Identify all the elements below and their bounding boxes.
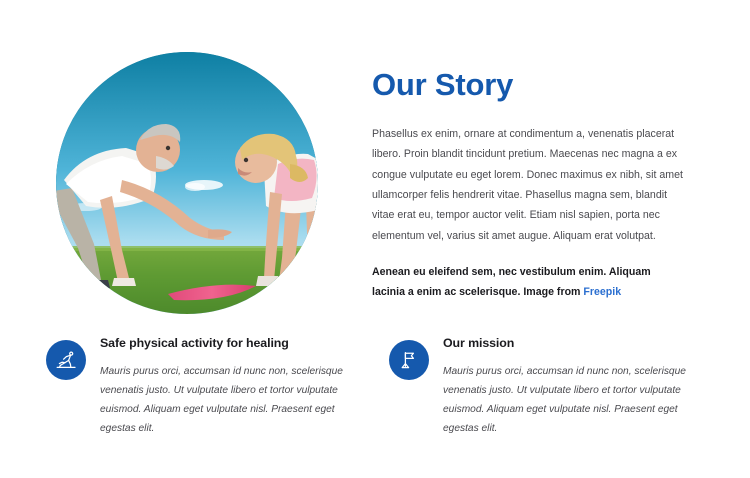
feature-text-block: Safe physical activity for healing Mauri… bbox=[100, 336, 346, 438]
page-title: Our Story bbox=[372, 68, 684, 102]
feature-card-safe-activity: Safe physical activity for healing Mauri… bbox=[46, 336, 346, 438]
image-credit-label: Image from bbox=[523, 286, 580, 298]
exercise-stretch-icon bbox=[46, 340, 86, 380]
feature-card-our-mission: Our mission Mauris purus orci, accumsan … bbox=[389, 336, 689, 438]
hero-photo-illustration bbox=[56, 52, 318, 314]
feature-body: Mauris purus orci, accumsan id nunc non,… bbox=[443, 363, 689, 439]
story-paragraph: Phasellus ex enim, ornare at condimentum… bbox=[372, 124, 684, 246]
feature-text-block: Our mission Mauris purus orci, accumsan … bbox=[443, 336, 689, 438]
feature-title: Safe physical activity for healing bbox=[100, 336, 346, 351]
story-bold-lead: Aenean eu eleifend sem, nec vestibulum e… bbox=[372, 262, 684, 303]
features-row: Safe physical activity for healing Mauri… bbox=[0, 336, 750, 456]
hero-photo bbox=[56, 52, 318, 314]
feature-title: Our mission bbox=[443, 336, 689, 351]
exercise-stretch-glyph bbox=[54, 348, 78, 372]
flag-glyph bbox=[397, 348, 421, 372]
page-root: Our Story Phasellus ex enim, ornare at c… bbox=[0, 0, 750, 478]
freepik-link[interactable]: Freepik bbox=[583, 286, 621, 298]
flag-icon bbox=[389, 340, 429, 380]
feature-body: Mauris purus orci, accumsan id nunc non,… bbox=[100, 363, 346, 439]
story-section: Our Story Phasellus ex enim, ornare at c… bbox=[372, 68, 684, 303]
